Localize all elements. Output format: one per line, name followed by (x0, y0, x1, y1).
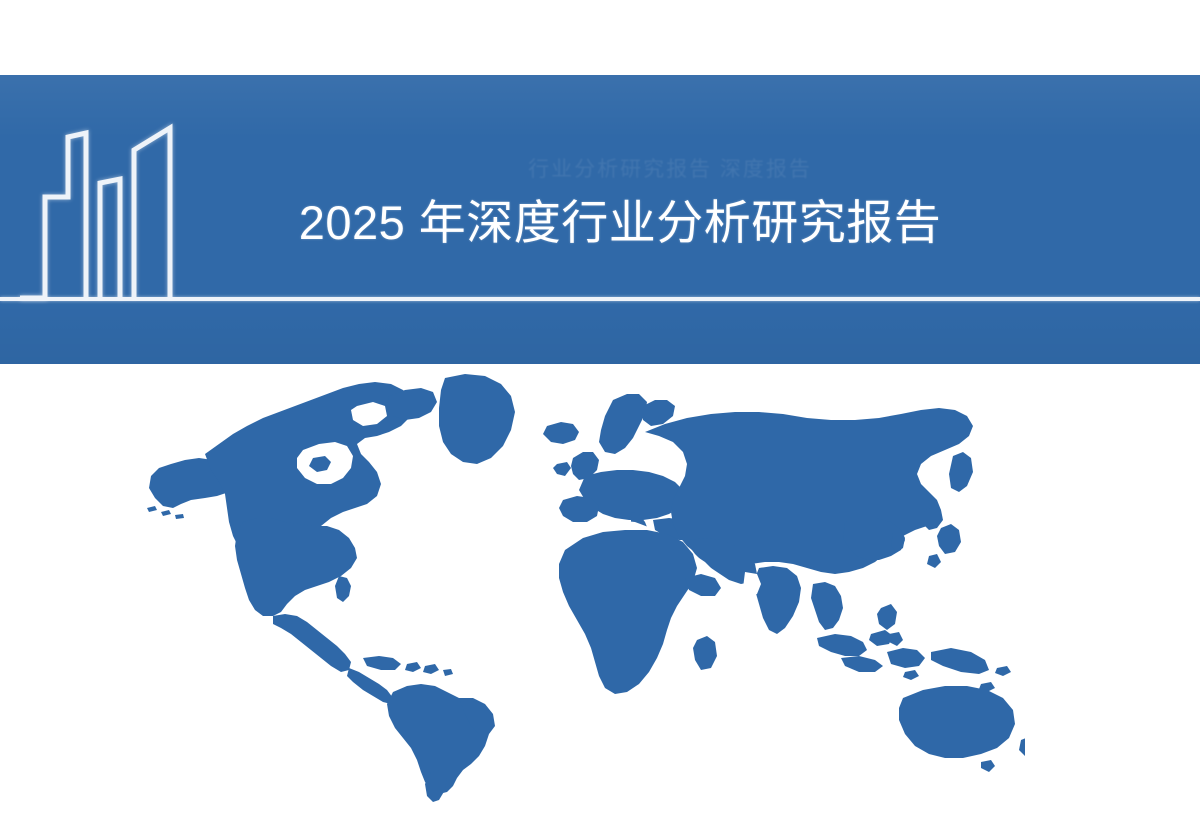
city-skyline-logo (8, 95, 198, 310)
title-slide: 行业分析研究报告 深度报告 2025 年深度行业分析研究报告 (0, 0, 1200, 832)
world-map-area (0, 364, 1200, 832)
world-map (145, 372, 1025, 802)
